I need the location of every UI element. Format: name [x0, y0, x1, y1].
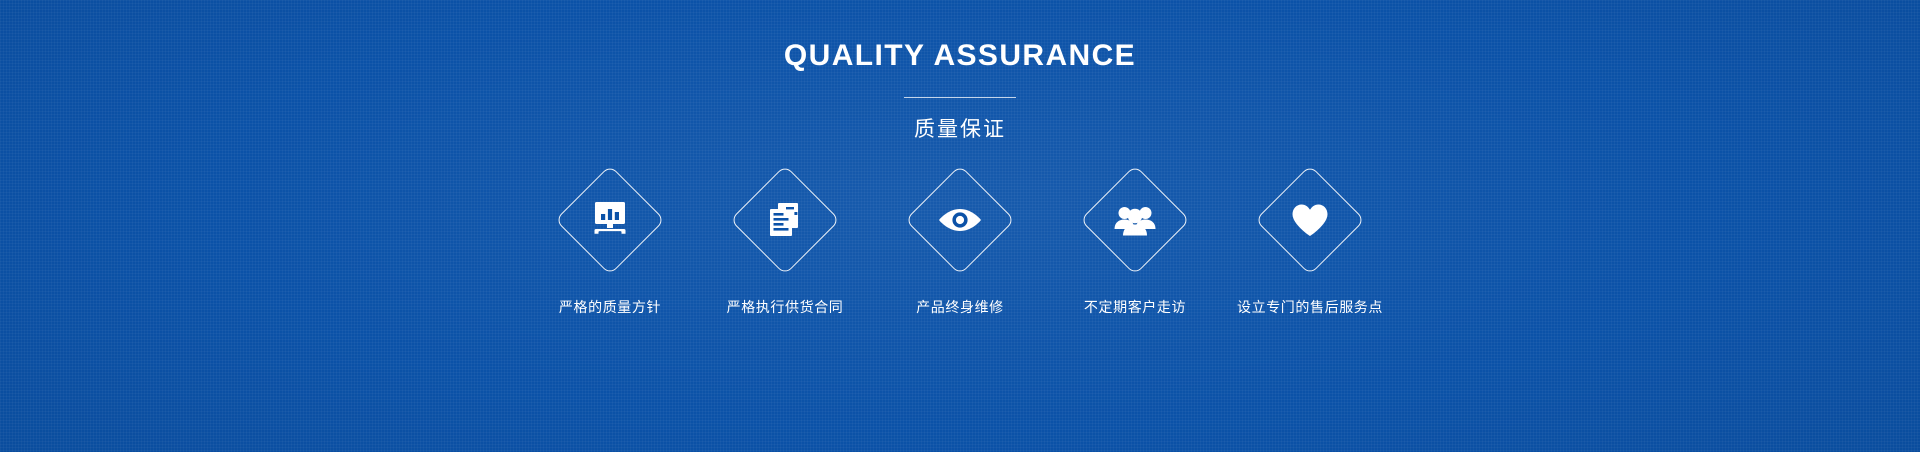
feature-diamond-frame [730, 165, 840, 275]
eye-icon [938, 206, 982, 234]
document-contract-icon [766, 201, 804, 239]
feature-diamond-frame [555, 165, 665, 275]
feature-item-quality-policy[interactable]: 严格的质量方针 [523, 177, 698, 314]
feature-diamond-frame [1255, 165, 1365, 275]
page-title-english: QUALITY ASSURANCE [784, 41, 1136, 71]
banner-content: QUALITY ASSURANCE 质量保证 [0, 0, 1920, 452]
feature-item-service-points[interactable]: 设立专门的售后服务点 [1223, 177, 1398, 314]
feature-diamond-frame [905, 165, 1015, 275]
feature-diamond-frame [1080, 165, 1190, 275]
feature-label: 严格执行供货合同 [727, 300, 844, 314]
feature-label: 严格的质量方针 [559, 300, 661, 314]
quality-assurance-banner: QUALITY ASSURANCE 质量保证 [0, 0, 1920, 452]
feature-item-lifetime-repair[interactable]: 产品终身维修 [873, 177, 1048, 314]
heading-block: QUALITY ASSURANCE 质量保证 [784, 41, 1136, 140]
feature-label: 不定期客户走访 [1084, 300, 1186, 314]
feature-label: 产品终身维修 [916, 300, 1004, 314]
feature-item-customer-visits[interactable]: 不定期客户走访 [1048, 177, 1223, 314]
heart-icon [1291, 203, 1329, 237]
users-group-icon [1114, 204, 1156, 236]
title-divider [904, 97, 1016, 98]
page-title-chinese: 质量保证 [914, 119, 1006, 140]
presentation-chart-icon [590, 201, 630, 239]
feature-label: 设立专门的售后服务点 [1237, 300, 1383, 314]
feature-list: 严格的质量方针 [523, 177, 1398, 314]
feature-item-supply-contract[interactable]: 严格执行供货合同 [698, 177, 873, 314]
